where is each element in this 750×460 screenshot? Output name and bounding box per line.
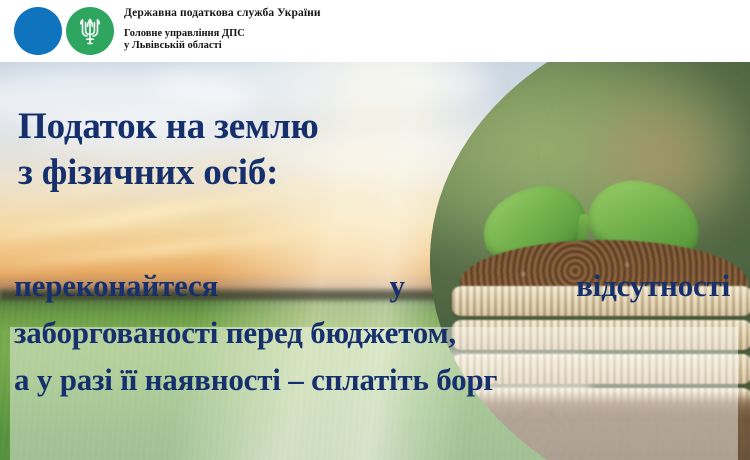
poster-title: Податок на землю з фізичних осіб: — [18, 104, 448, 196]
body-line-1-word-2: у — [389, 262, 404, 309]
agency-name: Державна податкова служба України — [124, 7, 544, 20]
agency-logo — [10, 7, 120, 55]
header-bar: Державна податкова служба України Головн… — [0, 0, 750, 62]
body-line-1: переконайтеся у відсутності — [14, 262, 730, 309]
body-line-2: заборгованості перед бюджетом, — [14, 309, 740, 356]
header-text-block: Державна податкова служба України Головн… — [124, 7, 544, 52]
poster-body: переконайтеся у відсутності заборгованос… — [14, 262, 740, 403]
agency-unit-line-2: у Львівській області — [124, 40, 544, 52]
title-line-2: з фізичних осіб: — [18, 150, 448, 196]
agency-unit-line-1: Головне управління ДПС — [124, 28, 544, 40]
blue-circle-icon — [14, 7, 62, 55]
trident-icon — [66, 7, 114, 55]
body-line-1-word-1: переконайтеся — [14, 262, 218, 309]
body-line-1-word-3: відсутності — [576, 262, 730, 309]
title-line-1: Податок на землю — [18, 104, 448, 150]
poster: Державна податкова служба України Головн… — [0, 0, 750, 460]
body-line-3: а у разі її наявності – сплатіть борг — [14, 356, 740, 403]
